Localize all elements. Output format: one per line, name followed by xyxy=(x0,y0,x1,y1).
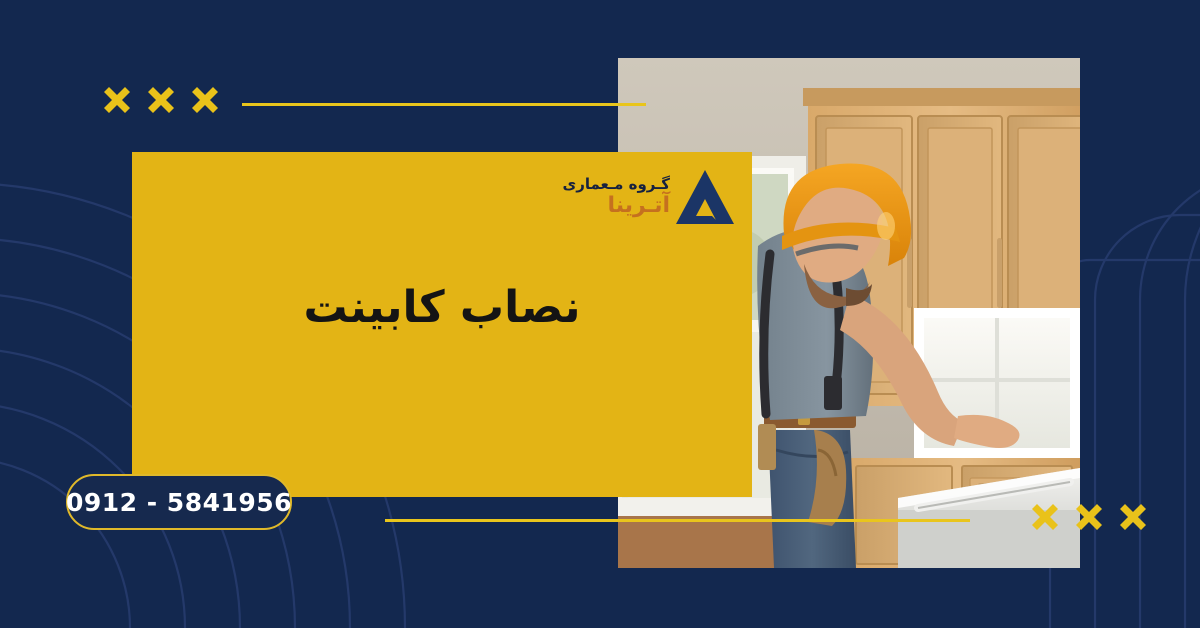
brand-logo-line1: گـروه مـعماری xyxy=(562,177,670,193)
phone-badge[interactable]: 0912 - 5841956 xyxy=(66,474,292,530)
x-icon xyxy=(102,85,132,115)
top-accent-rule xyxy=(242,103,646,106)
atrina-triangle-logo-icon xyxy=(674,168,736,228)
banner-root: گـروه مـعماری آتـرینا نصاب کابینت 0912 -… xyxy=(0,0,1200,628)
x-icon xyxy=(190,85,220,115)
x-icon xyxy=(1074,502,1104,532)
phone-number: 0912 - 5841956 xyxy=(66,488,292,517)
x-icon xyxy=(1030,502,1060,532)
x-icon xyxy=(146,85,176,115)
page-title: نصاب کابینت xyxy=(132,282,752,335)
brand-logo: گـروه مـعماری آتـرینا xyxy=(556,158,736,238)
bottom-accent-rule xyxy=(385,519,970,522)
brand-logo-text: گـروه مـعماری آتـرینا xyxy=(562,177,670,220)
brand-logo-line2: آتـرینا xyxy=(562,194,670,217)
x-icon xyxy=(1118,502,1148,532)
x-decoration-group-top-left xyxy=(102,85,220,115)
x-decoration-group-bottom-right xyxy=(1030,502,1148,532)
